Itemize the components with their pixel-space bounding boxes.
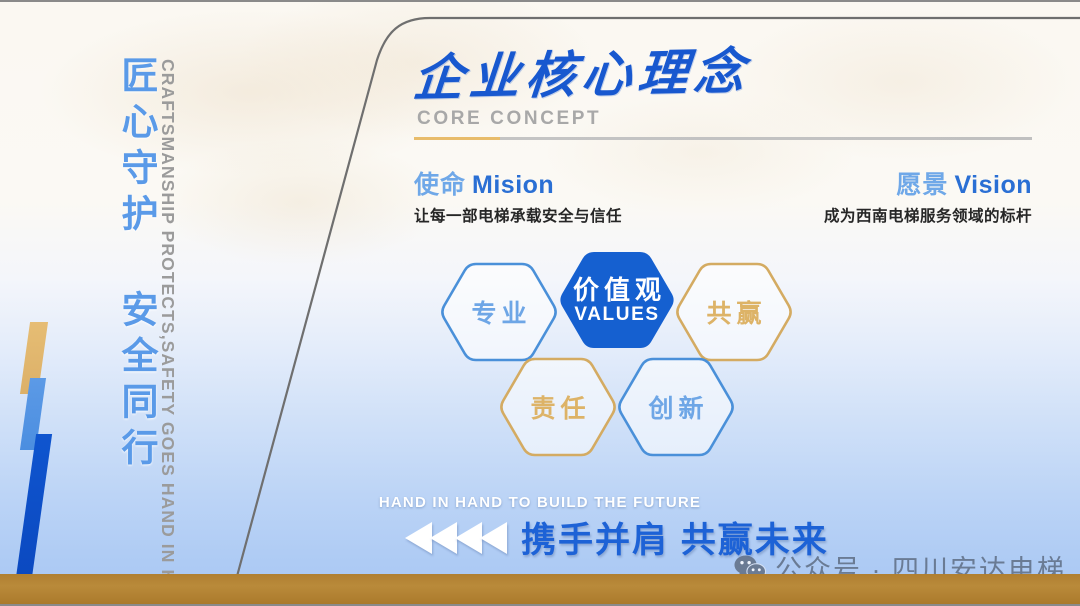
vision-text: 成为西南电梯服务领域的标杆 <box>824 204 1032 226</box>
mission-heading: 使命Mision <box>414 172 622 200</box>
triangle-arrow-icon <box>455 522 482 554</box>
content-panel: 企业核心理念 CORE CONCEPT 使命Mision 让每一部电梯承载安全与… <box>0 2 1080 606</box>
core-label-cn: 价值观 <box>568 277 666 303</box>
triangle-arrow-icon <box>480 522 507 554</box>
footer-slogan-en: HAND IN HAND TO BUILD THE FUTURE <box>0 494 1080 511</box>
title-divider-rule <box>414 137 1032 140</box>
mission-block: 使命Mision 让每一部电梯承载安全与信任 <box>414 172 622 226</box>
value-hexagon-win-win: 共赢 <box>673 259 795 369</box>
vision-heading: 愿景Vision <box>824 172 1032 200</box>
value-hexagon-core: 价值观 VALUES <box>556 247 678 357</box>
bottom-band <box>0 574 1080 604</box>
value-hexagon-innovation: 创新 <box>615 354 737 464</box>
vision-block: 愿景Vision 成为西南电梯服务领域的标杆 <box>824 172 1032 226</box>
triangle-arrow-icon <box>405 522 432 554</box>
mission-label-cn: 使命 <box>414 171 466 199</box>
core-label-en: VALUES <box>574 303 659 327</box>
value-hexagon-professional: 专业 <box>438 259 560 369</box>
vision-label-cn: 愿景 <box>896 171 948 199</box>
triangle-arrow-icon <box>430 522 457 554</box>
value-label: 责任 <box>525 397 590 422</box>
slide-canvas: 匠心守护 安全同行 CRAFTSMANSHIP PROTECTS,SAFETY … <box>0 0 1080 606</box>
value-label: 共赢 <box>701 302 766 327</box>
value-label: 创新 <box>643 397 708 422</box>
vision-label-en: Vision <box>954 171 1032 199</box>
value-hexagon-responsibility: 责任 <box>497 354 619 464</box>
values-hexagon-cluster: 专业 价值观 VALUES 共赢 责任 <box>430 247 830 472</box>
mission-label-en: Mision <box>472 171 554 199</box>
value-label: 专业 <box>466 302 531 327</box>
mission-text: 让每一部电梯承载安全与信任 <box>414 204 622 226</box>
page-title-en: CORE CONCEPT <box>417 108 601 130</box>
page-title-cn: 企业核心理念 <box>411 31 754 110</box>
